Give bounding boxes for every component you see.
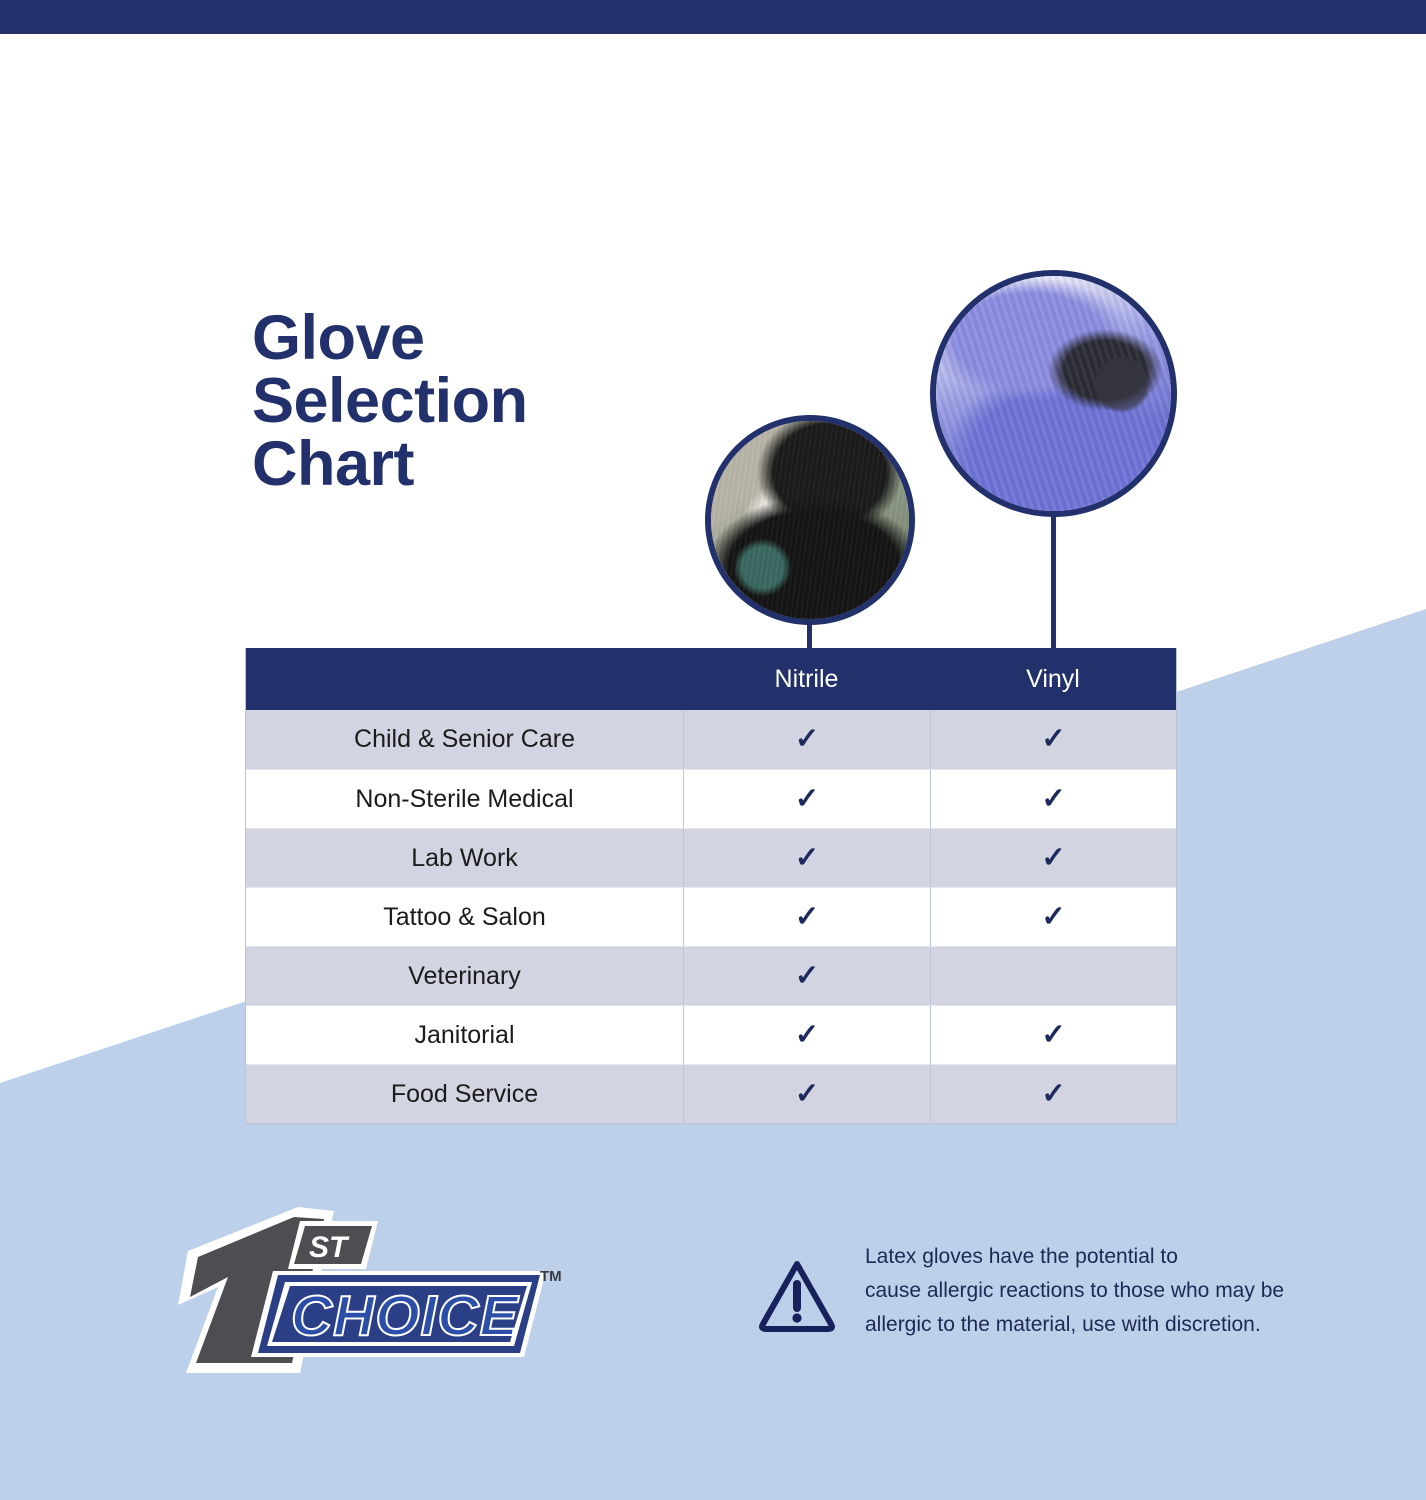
check-icon-nitrile: ✓ <box>683 947 930 1005</box>
logo-ordinal-text: ST <box>309 1231 350 1264</box>
check-icon-vinyl: ✓ <box>930 770 1176 828</box>
check-icon-vinyl: ✓ <box>930 888 1176 946</box>
check-icon-vinyl: ✓ <box>930 1006 1176 1064</box>
row-label: Veterinary <box>246 947 683 1005</box>
logo-word-text: CHOICE <box>291 1284 520 1348</box>
page-title: Glove Selection Chart <box>252 307 722 496</box>
vinyl-photo-connector <box>1051 514 1056 650</box>
check-icon-vinyl <box>930 947 1176 1005</box>
warning-line-1: Latex gloves have the potential to <box>865 1240 1284 1274</box>
header-cell-nitrile: Nitrile <box>683 648 930 710</box>
check-icon-vinyl: ✓ <box>930 1065 1176 1123</box>
check-icon-nitrile: ✓ <box>683 888 930 946</box>
page-title-line-2: Selection <box>252 370 722 433</box>
logo-word-choice: CHOICE <box>251 1271 546 1357</box>
table-row: Food Service ✓ ✓ <box>246 1064 1176 1123</box>
row-label: Non-Sterile Medical <box>246 770 683 828</box>
top-navy-bar <box>0 0 1426 34</box>
vinyl-photo-image <box>936 276 1171 511</box>
header-cell-blank <box>246 648 683 710</box>
table-body: Child & Senior Care ✓ ✓ Non-Sterile Medi… <box>246 710 1176 1123</box>
vinyl-gloves-photo <box>930 270 1177 517</box>
glove-selection-table: Nitrile Vinyl Child & Senior Care ✓ ✓ No… <box>245 648 1177 1124</box>
row-label: Child & Senior Care <box>246 710 683 769</box>
table-row: Veterinary ✓ <box>246 946 1176 1005</box>
table-row: Janitorial ✓ ✓ <box>246 1005 1176 1064</box>
table-row: Non-Sterile Medical ✓ ✓ <box>246 769 1176 828</box>
row-label: Food Service <box>246 1065 683 1123</box>
latex-warning: Latex gloves have the potential to cause… <box>757 1240 1284 1342</box>
check-icon-vinyl: ✓ <box>930 710 1176 769</box>
row-label: Tattoo & Salon <box>246 888 683 946</box>
table-header-row: Nitrile Vinyl <box>246 648 1176 710</box>
check-icon-nitrile: ✓ <box>683 1006 930 1064</box>
nitrile-photo-image <box>711 421 909 619</box>
table-row: Tattoo & Salon ✓ ✓ <box>246 887 1176 946</box>
nitrile-gloves-photo <box>705 415 915 625</box>
header-cell-vinyl: Vinyl <box>930 648 1176 710</box>
logo-trademark-text: TM <box>540 1268 562 1285</box>
check-icon-vinyl: ✓ <box>930 829 1176 887</box>
check-icon-nitrile: ✓ <box>683 710 930 769</box>
logo-ordinal-st: ST <box>288 1221 378 1269</box>
table-row: Child & Senior Care ✓ ✓ <box>246 710 1176 769</box>
check-icon-nitrile: ✓ <box>683 1065 930 1123</box>
check-icon-nitrile: ✓ <box>683 770 930 828</box>
warning-triangle-icon <box>757 1256 837 1334</box>
page-title-line-3: Chart <box>252 433 722 496</box>
warning-line-3: allergic to the material, use with discr… <box>865 1308 1284 1342</box>
table-row: Lab Work ✓ ✓ <box>246 828 1176 887</box>
warning-line-2: cause allergic reactions to those who ma… <box>865 1274 1284 1308</box>
brand-logo-1st-choice: ST CHOICE TM <box>148 1205 568 1375</box>
warning-text: Latex gloves have the potential to cause… <box>865 1240 1284 1342</box>
page-title-line-1: Glove <box>252 307 722 370</box>
nitrile-photo-connector <box>807 622 812 650</box>
row-label: Lab Work <box>246 829 683 887</box>
check-icon-nitrile: ✓ <box>683 829 930 887</box>
row-label: Janitorial <box>246 1006 683 1064</box>
